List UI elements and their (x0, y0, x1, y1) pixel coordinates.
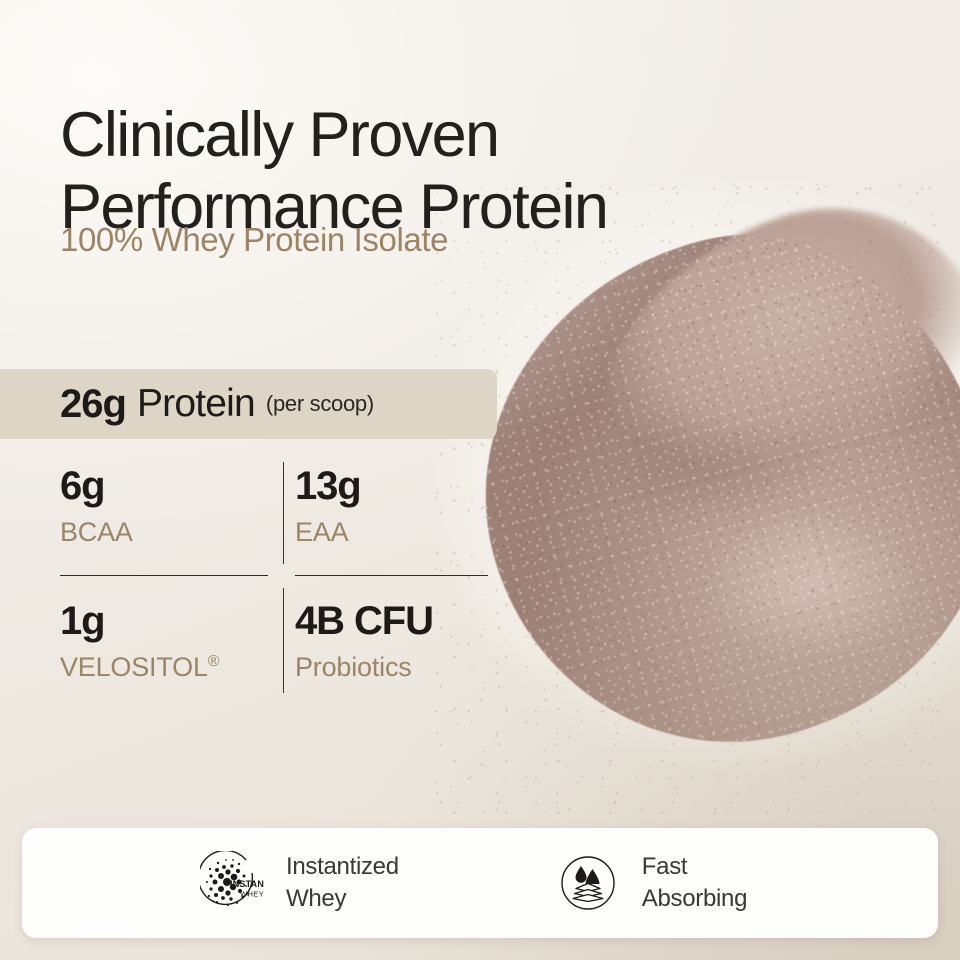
subtitle: 100% Whey Protein Isolate (60, 221, 448, 259)
feature-fast-absorbing: Fast Absorbing (556, 851, 747, 915)
stat-label-text: Probiotics (295, 652, 412, 682)
stat-label: Probiotics (295, 654, 495, 681)
stat-label: VELOSITOL® (60, 654, 260, 681)
registered-trademark-symbol: ® (208, 653, 220, 670)
feature-label-line-2: Whey (286, 883, 399, 915)
powder-light-pool (660, 480, 960, 690)
stat-bcaa: 6g BCAA (60, 466, 260, 546)
stat-velositol: 1g VELOSITOL® (60, 601, 260, 681)
stat-value: 4B CFU (295, 601, 495, 641)
protein-highlight-bar: 26g Protein (per scoop) (0, 369, 497, 439)
stat-label-text: BCAA (60, 517, 133, 547)
nutrition-stats-grid: 6g BCAA 13g EAA 1g VELOSITOL® 4B CFU Pro… (60, 466, 488, 688)
svg-text:INSTANT: INSTANT (230, 879, 264, 889)
protein-word: Protein (137, 382, 255, 426)
divider-vertical-bottom (283, 588, 284, 693)
feature-card: INSTANT WHEY Instantized Whey (22, 828, 938, 938)
stat-value: 6g (60, 466, 260, 506)
feature-instantized-whey: INSTANT WHEY Instantized Whey (200, 851, 399, 915)
divider-horizontal-left (60, 575, 268, 576)
feature-label-line-1: Fast (642, 851, 747, 883)
divider-vertical-top (283, 462, 284, 564)
protein-serving-note: (per scoop) (266, 391, 374, 417)
product-poster: Clinically Proven Performance Protein 10… (0, 0, 960, 960)
headline-line-1: Clinically Proven (60, 100, 800, 172)
droplets-layers-icon (556, 851, 620, 915)
svg-text:WHEY: WHEY (240, 890, 264, 899)
stat-label-text: EAA (295, 517, 348, 547)
stat-probiotics: 4B CFU Probiotics (295, 601, 495, 681)
stat-eaa: 13g EAA (295, 466, 495, 546)
stat-label: BCAA (60, 519, 260, 546)
stat-label-text: VELOSITOL (60, 652, 208, 682)
divider-horizontal-right (295, 575, 488, 576)
feature-label: Instantized Whey (286, 851, 399, 915)
protein-powder-image (430, 180, 960, 820)
stat-value: 13g (295, 466, 495, 506)
stat-value: 1g (60, 601, 260, 641)
feature-label-line-2: Absorbing (642, 883, 747, 915)
feature-label: Fast Absorbing (642, 851, 747, 915)
feature-label-line-1: Instantized (286, 851, 399, 883)
stat-label: EAA (295, 519, 495, 546)
instant-whey-badge-icon: INSTANT WHEY (200, 851, 264, 915)
protein-amount: 26g (60, 382, 126, 427)
